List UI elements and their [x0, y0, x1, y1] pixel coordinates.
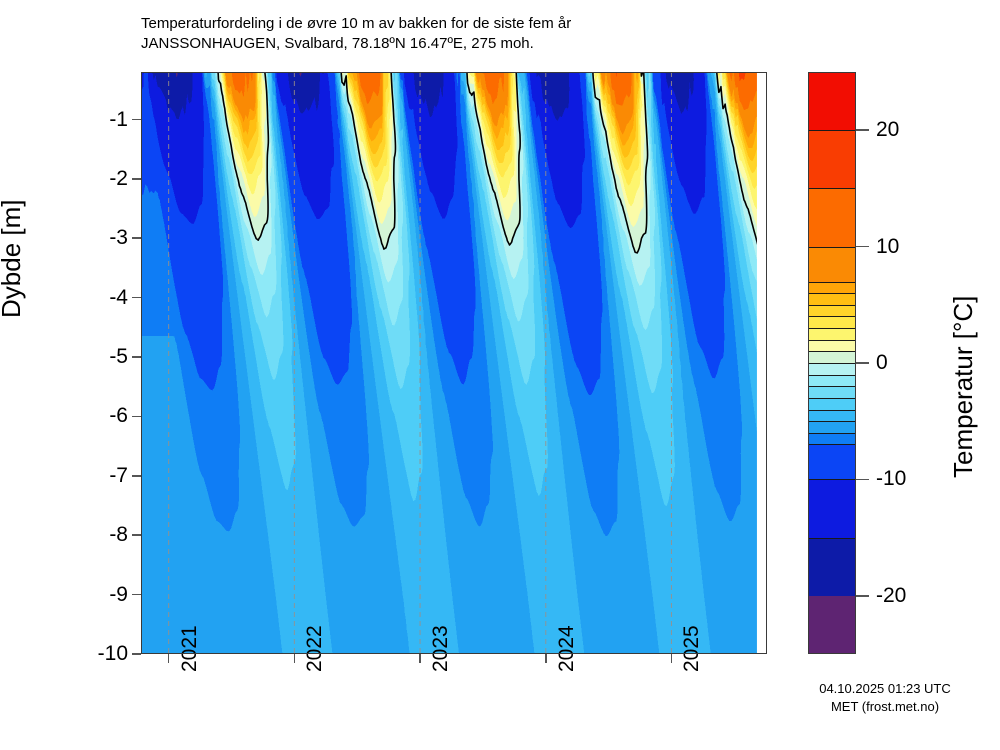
y-axis-tick-label-5: -6 — [61, 404, 128, 428]
colorbar-band — [808, 375, 856, 387]
y-axis-tick-mark — [132, 237, 141, 239]
y-axis-tick-label-3: -4 — [61, 286, 128, 310]
y-axis-tick-mark — [132, 297, 141, 299]
colorbar-tick-label-2: 0 — [876, 351, 888, 375]
colorbar-tick-label-4: -20 — [876, 584, 906, 608]
footer-timestamp: 04.10.2025 01:23 UTC — [790, 680, 980, 698]
colorbar-band-separator — [808, 305, 856, 306]
colorbar-label: Temperatur [°C] — [948, 296, 979, 478]
colorbar-band-separator — [808, 293, 856, 294]
colorbar-band-separator — [808, 328, 856, 329]
colorbar-band — [808, 479, 856, 537]
chart-title-block: Temperaturfordeling i de øvre 10 m av ba… — [141, 14, 571, 54]
colorbar-band — [808, 398, 856, 410]
colorbar-band-separator — [808, 247, 856, 248]
colorbar-band — [808, 305, 856, 317]
colorbar-tick-label-1: 10 — [876, 235, 899, 259]
x-axis-tick-label-4: 2025 — [680, 625, 704, 672]
y-axis-tick-mark — [132, 356, 141, 358]
colorbar-band — [808, 293, 856, 305]
colorbar-band — [808, 247, 856, 282]
colorbar-band — [808, 421, 856, 433]
x-axis-tick-label-2: 2023 — [429, 625, 453, 672]
y-axis-tick-label-6: -7 — [61, 464, 128, 488]
y-axis-tick-mark — [132, 119, 141, 121]
y-axis-tick-label-0: -1 — [61, 108, 128, 132]
colorbar-tick-label-3: -10 — [876, 467, 906, 491]
colorbar-band — [808, 188, 856, 246]
colorbar-band-separator — [808, 188, 856, 189]
colorbar-tick-mark — [856, 479, 869, 481]
colorbar-band-separator — [808, 386, 856, 387]
colorbar-band-separator — [808, 538, 856, 539]
colorbar-band-separator — [808, 340, 856, 341]
colorbar-band-separator — [808, 375, 856, 376]
colorbar-band-separator — [808, 479, 856, 480]
colorbar-band-separator — [808, 421, 856, 422]
colorbar-band-separator — [808, 398, 856, 399]
colorbar-band-separator — [808, 72, 856, 73]
colorbar-band — [808, 130, 856, 188]
colorbar-band — [808, 444, 856, 479]
colorbar-tick-mark — [856, 246, 869, 248]
x-axis-tick-label-1: 2022 — [303, 625, 327, 672]
x-axis-tick-mark — [168, 654, 170, 663]
colorbar-band — [808, 538, 856, 596]
y-axis-tick-mark — [132, 653, 141, 655]
colorbar-tick-mark — [856, 595, 869, 597]
colorbar-band — [808, 316, 856, 328]
colorbar — [808, 72, 856, 654]
x-axis-tick-mark — [545, 654, 547, 663]
colorbar-band — [808, 386, 856, 398]
y-axis-tick-mark — [132, 534, 141, 536]
colorbar-band-separator — [808, 282, 856, 283]
colorbar-tick-mark — [856, 362, 869, 364]
x-axis-tick-mark — [671, 654, 673, 663]
colorbar-band-separator — [808, 410, 856, 411]
chart-title: Temperaturfordeling i de øvre 10 m av ba… — [141, 14, 571, 34]
colorbar-band-separator — [808, 351, 856, 352]
y-axis-tick-label-1: -2 — [61, 167, 128, 191]
y-axis-tick-label-4: -5 — [61, 345, 128, 369]
y-axis-tick-label-9: -10 — [61, 642, 128, 666]
x-axis-tick-label-3: 2024 — [555, 625, 579, 672]
x-axis-tick-mark — [294, 654, 296, 663]
colorbar-band — [808, 596, 856, 654]
colorbar-band-separator — [808, 444, 856, 445]
contour-plot-area — [141, 72, 767, 654]
y-axis-tick-label-2: -3 — [61, 226, 128, 250]
colorbar-band — [808, 363, 856, 375]
colorbar-band-separator — [808, 363, 856, 364]
colorbar-band — [808, 282, 856, 294]
footer-source: MET (frost.met.no) — [790, 698, 980, 716]
colorbar-tick-label-0: 20 — [876, 118, 899, 142]
colorbar-band — [808, 72, 856, 130]
colorbar-band — [808, 328, 856, 340]
colorbar-band — [808, 351, 856, 363]
y-axis-tick-label-8: -9 — [61, 583, 128, 607]
x-axis-tick-mark — [419, 654, 421, 663]
colorbar-band — [808, 340, 856, 352]
colorbar-band — [808, 410, 856, 422]
y-axis-tick-mark — [132, 594, 141, 596]
colorbar-band-separator — [808, 433, 856, 434]
colorbar-band — [808, 433, 856, 445]
temperature-field — [141, 72, 767, 654]
y-axis-label: Dybde [m] — [0, 200, 27, 319]
x-axis-tick-label-0: 2021 — [178, 625, 202, 672]
y-axis-tick-mark — [132, 475, 141, 477]
chart-subtitle: JANSSONHAUGEN, Svalbard, 78.18ºN 16.47ºE… — [141, 34, 571, 54]
footer: 04.10.2025 01:23 UTC MET (frost.met.no) — [790, 680, 980, 716]
y-axis-tick-mark — [132, 178, 141, 180]
colorbar-band-separator — [808, 130, 856, 131]
y-axis-tick-mark — [132, 416, 141, 418]
colorbar-band-separator — [808, 316, 856, 317]
colorbar-tick-mark — [856, 129, 869, 131]
y-axis-tick-label-7: -8 — [61, 523, 128, 547]
